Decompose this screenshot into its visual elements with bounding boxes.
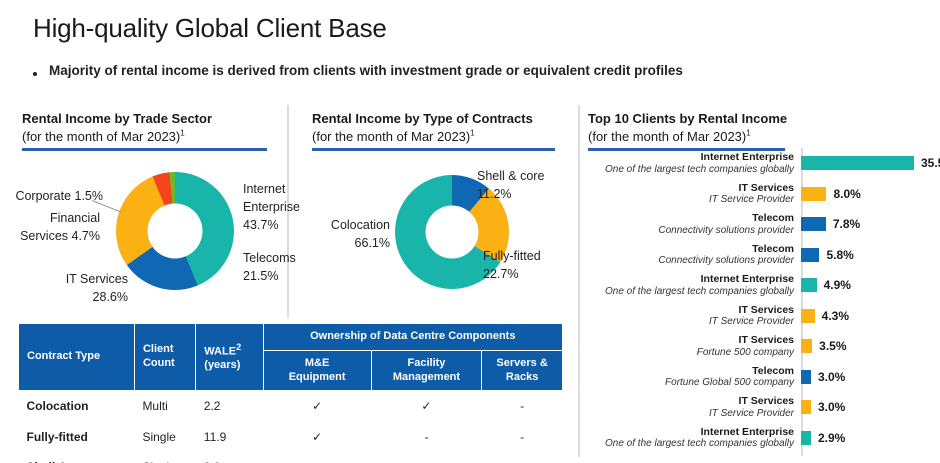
bullet-dot-icon — [33, 72, 37, 76]
panel-heading-trade-sector: Rental Income by Trade Sector (for the m… — [22, 110, 267, 151]
bar-chart-row: IT ServicesIT Service Provider3.0% — [588, 392, 933, 423]
panel-heading-subtitle: (for the month of Mar 2023)1 — [312, 128, 555, 146]
cell-contract-type: Fully-fitted — [19, 422, 135, 452]
bar-row-bar — [801, 187, 826, 201]
subtitle-text: (for the month of Mar 2023) — [22, 129, 180, 144]
page-title: High-quality Global Client Base — [33, 13, 387, 44]
footnote-marker: 1 — [180, 128, 184, 137]
bar-row-bar — [801, 309, 815, 323]
table-row: Fully-fittedSingle11.9✓-- — [19, 422, 563, 452]
cell-client-count: Single — [134, 422, 195, 452]
th-facility-management: Facility Management — [371, 350, 482, 391]
bullet-text: Majority of rental income is derived fro… — [49, 63, 683, 80]
bar-row-value: 35.5% — [921, 156, 940, 170]
heading-rule — [22, 148, 267, 151]
slide-root: High-quality Global Client Base Majority… — [0, 0, 940, 463]
cell-facility-management: - — [371, 422, 482, 452]
bar-row-client-name: IT Services — [588, 304, 794, 316]
bar-row-bar-wrap: 8.0% — [801, 187, 933, 201]
bar-row-bar — [801, 156, 914, 170]
bar-row-label: IT ServicesIT Service Provider — [588, 182, 801, 206]
th-me-equipment: M&E Equipment — [263, 350, 371, 391]
th-contract-type: Contract Type — [19, 324, 135, 391]
cell-wale: 11.9 — [196, 422, 263, 452]
bar-chart-row: IT ServicesIT Service Provider8.0% — [588, 179, 933, 210]
table-row: Shell & coreSingle8.0--- — [19, 452, 563, 463]
donut1-label-it-services: IT Services 28.6% — [18, 270, 128, 306]
bar-row-value: 8.0% — [833, 187, 860, 201]
bar-row-label: Internet EnterpriseOne of the largest te… — [588, 151, 801, 175]
th-servers-racks: Servers & Racks — [482, 350, 563, 391]
bar-row-client-desc: One of the largest tech companies global… — [588, 286, 794, 298]
bar-row-label: IT ServicesIT Service Provider — [588, 395, 801, 419]
bar-chart-row: Internet EnterpriseOne of the largest te… — [588, 423, 933, 454]
cell-contract-type: Shell & core — [19, 452, 135, 463]
bar-row-client-name: Telecom — [588, 365, 794, 377]
wale-footnote-marker: 2 — [236, 342, 241, 352]
bar-row-bar — [801, 217, 826, 231]
bar-row-client-desc: One of the largest tech companies global… — [588, 164, 794, 176]
bar-chart-row: Internet EnterpriseOne of the largest te… — [588, 148, 933, 179]
bar-row-label: Internet EnterpriseOne of the largest te… — [588, 426, 801, 450]
cell-me-equipment: ✓ — [263, 391, 371, 422]
cell-client-count: Single — [134, 452, 195, 463]
bar-chart-row: TelecomConnectivity solutions provider7.… — [588, 209, 933, 240]
bar-row-bar — [801, 339, 812, 353]
footnote-marker: 1 — [746, 128, 750, 137]
bar-row-bar-wrap: 3.5% — [801, 339, 933, 353]
bar-row-bar — [801, 400, 811, 414]
bar-row-label: IT ServicesIT Service Provider — [588, 304, 801, 328]
th-wale: WALE2 (years) — [196, 324, 263, 391]
bar-row-client-desc: Fortune Global 500 company — [588, 377, 794, 389]
donut-hole — [426, 206, 479, 259]
bar-row-value: 3.0% — [818, 370, 845, 384]
bar-row-bar-wrap: 2.9% — [801, 431, 933, 445]
bar-row-bar-wrap: 3.0% — [801, 400, 933, 414]
donut1-label-corporate: Corporate 1.5% — [8, 187, 103, 205]
bar-row-client-desc: IT Service Provider — [588, 408, 794, 420]
donut-chart-trade-sector — [116, 172, 234, 290]
th-ownership-group: Ownership of Data Centre Components — [263, 324, 562, 351]
bar-row-bar-wrap: 4.9% — [801, 278, 933, 292]
panel-heading-title: Rental Income by Type of Contracts — [312, 110, 555, 128]
bar-row-bar-wrap: 4.3% — [801, 309, 933, 323]
bar-row-value: 3.5% — [819, 339, 846, 353]
cell-wale: 2.2 — [196, 391, 263, 422]
bar-row-client-name: Telecom — [588, 212, 794, 224]
bar-row-value: 2.9% — [818, 431, 845, 445]
donut-hole — [148, 204, 203, 259]
cell-me-equipment: ✓ — [263, 422, 371, 452]
th-client-count: Client Count — [134, 324, 195, 391]
bar-row-bar-wrap: 3.0% — [801, 370, 933, 384]
donut1-label-financial-services: Financial Services 4.7% — [2, 209, 100, 245]
bar-row-client-desc: IT Service Provider — [588, 194, 794, 206]
bar-chart-row: IT ServicesIT Service Provider4.3% — [588, 301, 933, 332]
bar-row-label: IT ServicesFortune 500 company — [588, 334, 801, 358]
panel-heading-top-clients: Top 10 Clients by Rental Income (for the… — [588, 110, 785, 151]
bar-row-client-desc: One of the largest tech companies global… — [588, 438, 794, 450]
heading-rule — [312, 148, 555, 151]
bar-row-client-name: Telecom — [588, 243, 794, 255]
cell-contract-type: Colocation — [19, 391, 135, 422]
bar-row-bar-wrap: 5.8% — [801, 248, 933, 262]
cell-facility-management: ✓ — [371, 391, 482, 422]
bar-row-label: TelecomConnectivity solutions provider — [588, 212, 801, 236]
table-head: Contract Type Client Count WALE2 (years)… — [19, 324, 563, 391]
bar-row-label: Internet EnterpriseOne of the largest te… — [588, 273, 801, 297]
bullet-row: Majority of rental income is derived fro… — [33, 63, 793, 80]
bar-row-client-name: Internet Enterprise — [588, 426, 794, 438]
bar-row-client-name: IT Services — [588, 334, 794, 346]
table-body: ColocationMulti2.2✓✓-Fully-fittedSingle1… — [19, 391, 563, 463]
panel-heading-subtitle: (for the month of Mar 2023)1 — [22, 128, 267, 146]
contract-type-table: Contract Type Client Count WALE2 (years)… — [18, 323, 563, 463]
bar-row-client-name: IT Services — [588, 182, 794, 194]
cell-client-count: Multi — [134, 391, 195, 422]
bar-chart-rows: Internet EnterpriseOne of the largest te… — [588, 148, 933, 453]
bar-row-bar — [801, 431, 811, 445]
cell-servers-racks: - — [482, 391, 563, 422]
bar-row-client-desc: Connectivity solutions provider — [588, 225, 794, 237]
bar-row-value: 4.3% — [822, 309, 849, 323]
bar-row-client-name: Internet Enterprise — [588, 273, 794, 285]
bar-chart-row: Internet EnterpriseOne of the largest te… — [588, 270, 933, 301]
donut2-label-colocation: Colocation 66.1% — [305, 216, 390, 252]
table-row: ColocationMulti2.2✓✓- — [19, 391, 563, 422]
panel-heading-title: Rental Income by Trade Sector — [22, 110, 267, 128]
donut2-label-fully-fitted: Fully-fitted 22.7% — [483, 247, 541, 283]
bar-row-value: 4.9% — [824, 278, 851, 292]
bar-chart-row: IT ServicesFortune 500 company3.5% — [588, 331, 933, 362]
bar-row-value: 5.8% — [826, 248, 853, 262]
bar-row-value: 3.0% — [818, 400, 845, 414]
donut2-label-shell-core: Shell & core 11.2% — [477, 167, 544, 203]
bar-row-client-name: Internet Enterprise — [588, 151, 794, 163]
cell-servers-racks: - — [482, 452, 563, 463]
cell-servers-racks: - — [482, 422, 563, 452]
bar-chart-row: TelecomConnectivity solutions provider5.… — [588, 240, 933, 271]
subtitle-text: (for the month of Mar 2023) — [588, 129, 746, 144]
bar-row-label: TelecomConnectivity solutions provider — [588, 243, 801, 267]
donut1-label-internet-enterprise: Internet Enterprise 43.7% — [243, 180, 300, 234]
donut1-label-telecoms: Telecoms 21.5% — [243, 249, 296, 285]
bar-row-client-desc: Fortune 500 company — [588, 347, 794, 359]
panel-heading-subtitle: (for the month of Mar 2023)1 — [588, 128, 785, 146]
table-header-row-1: Contract Type Client Count WALE2 (years)… — [19, 324, 563, 351]
panel-heading-title: Top 10 Clients by Rental Income — [588, 110, 785, 128]
bar-row-bar-wrap: 7.8% — [801, 217, 933, 231]
bar-row-client-desc: Connectivity solutions provider — [588, 255, 794, 267]
footnote-marker: 1 — [470, 128, 474, 137]
bar-chart-row: TelecomFortune Global 500 company3.0% — [588, 362, 933, 393]
subtitle-text: (for the month of Mar 2023) — [312, 129, 470, 144]
cell-me-equipment: - — [263, 452, 371, 463]
bar-row-client-desc: IT Service Provider — [588, 316, 794, 328]
bar-row-client-name: IT Services — [588, 395, 794, 407]
bar-row-bar — [801, 370, 811, 384]
cell-wale: 8.0 — [196, 452, 263, 463]
bar-row-bar — [801, 248, 819, 262]
bar-row-bar-wrap: 35.5% — [801, 156, 940, 170]
bar-row-bar — [801, 278, 817, 292]
panel-divider-right — [578, 105, 580, 457]
bar-row-label: TelecomFortune Global 500 company — [588, 365, 801, 389]
bar-row-value: 7.8% — [833, 217, 860, 231]
cell-facility-management: - — [371, 452, 482, 463]
bar-chart-top-clients: Internet EnterpriseOne of the largest te… — [588, 148, 933, 458]
panel-heading-contract-type: Rental Income by Type of Contracts (for … — [312, 110, 555, 151]
